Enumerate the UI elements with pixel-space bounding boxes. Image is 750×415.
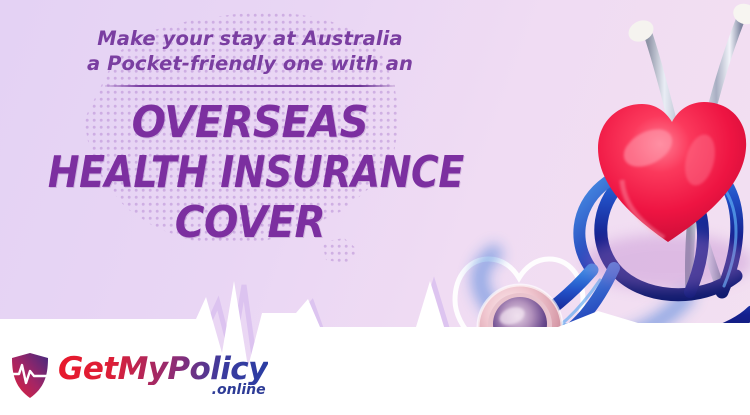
headline-line-2: HEALTH INSURANCE	[48, 148, 452, 198]
eartip-left	[625, 16, 657, 45]
stethoscope-binaural	[625, 0, 750, 292]
headline-block: Make your stay at Australia a Pocket-fri…	[0, 0, 500, 248]
page-title: OVERSEAS HEALTH INSURANCE COVER	[15, 98, 485, 248]
divider-rule	[105, 85, 395, 87]
kicker-line-1: Make your stay at Australia	[97, 27, 402, 50]
kicker-line-2: a Pocket-friendly one with an	[50, 51, 450, 76]
promo-banner: Make your stay at Australia a Pocket-fri…	[0, 0, 750, 415]
red-3d-heart	[584, 102, 750, 290]
eartip-right	[730, 0, 750, 28]
headline-line-1: OVERSEAS	[34, 98, 466, 148]
brand-wordmark: GetMyPolicy .online	[58, 354, 268, 397]
kicker-text: Make your stay at Australia a Pocket-fri…	[50, 26, 450, 76]
shield-heartbeat-icon	[10, 352, 50, 399]
brand-logo[interactable]: GetMyPolicy .online	[10, 352, 268, 399]
headline-line-3: COVER	[34, 198, 466, 248]
brand-name: GetMyPolicy	[58, 354, 268, 385]
